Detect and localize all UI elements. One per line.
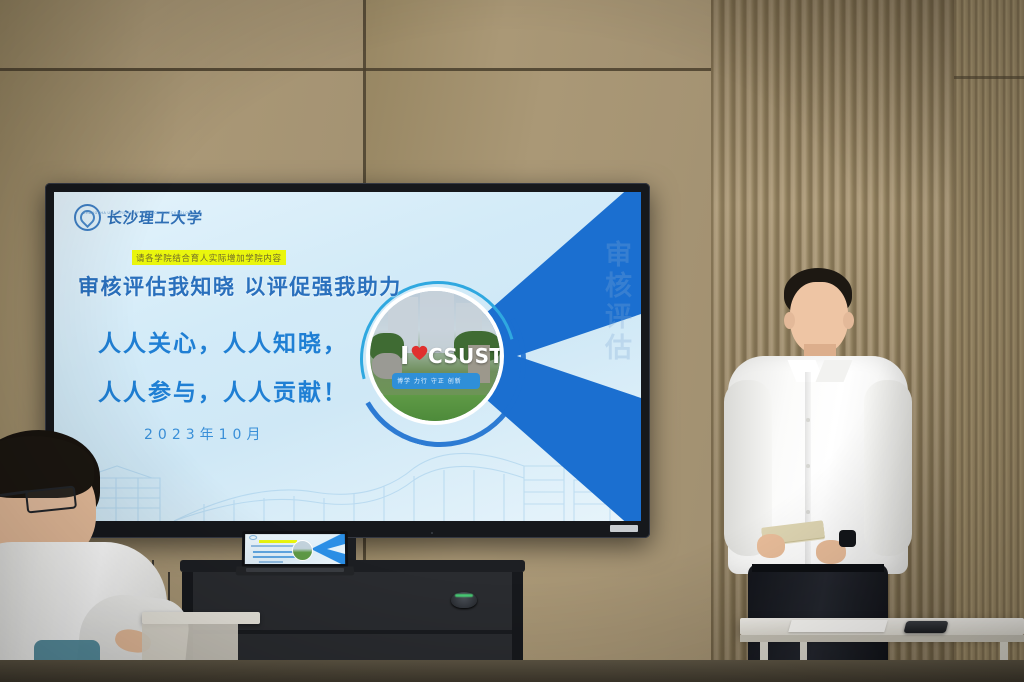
laptop-screen [245, 534, 345, 564]
laptop-lid [242, 531, 348, 567]
heart-icon [411, 345, 428, 361]
laptop-photo-circle [292, 540, 313, 561]
photo-plinth-text: 博学 力行 守正 创新 [397, 376, 462, 385]
speaker-hand-left [757, 534, 785, 558]
speaker-shirt-placket [805, 372, 811, 570]
photo-text-csust: CSUST [428, 346, 500, 366]
photo-scene: 审核评估 I CSUST [0, 0, 1024, 682]
university-emblem-icon [74, 204, 101, 231]
wall-seam-horizontal [0, 68, 711, 71]
table-papers [788, 620, 887, 632]
slide-title: 审核评估我知晓 以评促强我助力 [78, 271, 402, 301]
smartphone[interactable] [904, 621, 949, 633]
speaker-shirt-button [806, 418, 810, 422]
speaker-shirt-button [806, 510, 810, 514]
laptop-slide-highlight [259, 540, 297, 543]
university-logo: 长沙理工大学 [74, 204, 203, 231]
slide-slogan-line-1: 人人关心，人人知晓， [98, 324, 348, 358]
slide-watermark: 审核评估 [597, 240, 635, 455]
speaker-ear-left [784, 312, 795, 329]
campus-photo: I CSUST 博学 力行 守正 创新 [370, 291, 500, 421]
wall-seam-right [954, 76, 1024, 79]
wall-panel-top-left [0, 0, 366, 68]
wrist-watch [839, 530, 856, 547]
mouse-led-strip [455, 594, 473, 597]
wall-slats-far-right [954, 0, 1024, 682]
slide-highlight-note: 请各学院结合育人实际增加学院内容 [132, 250, 286, 265]
laptop-slide-line2 [253, 556, 295, 558]
speaker-ear-right [843, 312, 854, 329]
floor [0, 660, 1024, 682]
laptop-slide-logo [249, 535, 257, 540]
laptop-slide-date [259, 561, 283, 563]
display-brand-plate [610, 525, 638, 532]
presenter-laptop[interactable] [236, 531, 354, 576]
speaker-shirt-button [806, 464, 810, 468]
attendee-desk-top [142, 612, 260, 624]
speaker-arm-right [864, 380, 912, 556]
wall-panel-top-mid [366, 0, 711, 68]
speaker-belt [752, 564, 884, 572]
front-table-edge [740, 635, 1024, 642]
cart-shelf [192, 630, 513, 634]
photo-lawn [370, 395, 500, 421]
university-name-en: CHANGSHA UNIVERSITY OF SCIENCE & TECHNOL… [83, 211, 194, 215]
photo-letter-i: I [400, 343, 409, 368]
laptop-slide-line1 [253, 551, 295, 553]
display-ir-dot [431, 532, 433, 534]
slide-slogan-line-2: 人人参与，人人贡献！ [98, 373, 348, 407]
laptop-keyboard [246, 568, 344, 572]
